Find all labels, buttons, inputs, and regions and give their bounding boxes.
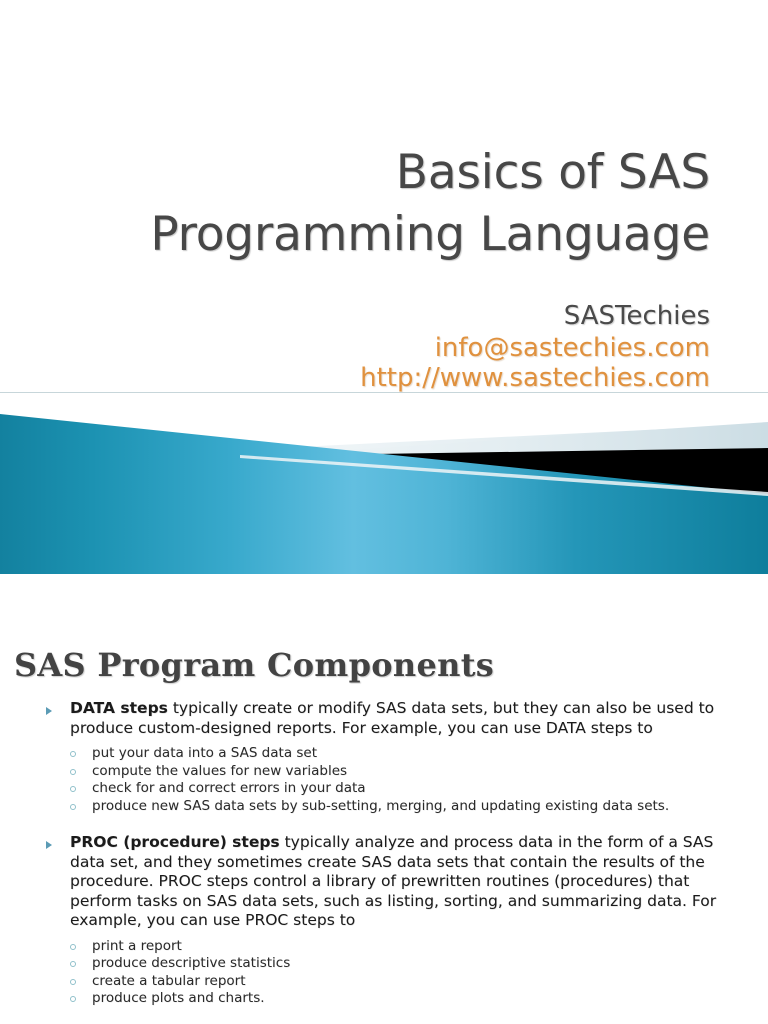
title-block: Basics of SAS Programming Language xyxy=(40,142,710,266)
circle-bullet-icon xyxy=(70,804,76,810)
bullet-lead: DATA steps xyxy=(70,699,168,717)
sub-bullet-text: compute the values for new variables xyxy=(92,763,347,779)
page-title: SAS Program Components xyxy=(14,646,494,684)
list-item: print a report xyxy=(0,938,768,955)
circle-bullet-icon xyxy=(70,751,76,757)
bullet-item: DATA steps typically create or modify SA… xyxy=(0,698,768,737)
sub-bullet-text: print a report xyxy=(92,938,182,954)
circle-bullet-icon xyxy=(70,786,76,792)
bullet-text: PROC (procedure) steps typically analyze… xyxy=(70,833,716,929)
divider-line xyxy=(0,392,768,393)
triangle-bullet-icon xyxy=(46,707,52,715)
circle-bullet-icon xyxy=(70,961,76,967)
bullet-lead: PROC (procedure) steps xyxy=(70,833,280,851)
sub-bullet-text: produce plots and charts. xyxy=(92,990,265,1006)
circle-bullet-icon xyxy=(70,979,76,985)
deck-title-line-2: Programming Language xyxy=(40,204,710,266)
triangle-bullet-icon xyxy=(46,841,52,849)
list-item: create a tabular report xyxy=(0,973,768,990)
subtitle-block: SASTechies info@sastechies.com http://ww… xyxy=(40,300,710,393)
list-item: put your data into a SAS data set xyxy=(0,745,768,762)
sub-bullet-text: create a tabular report xyxy=(92,973,246,989)
sub-bullet-text: produce new SAS data sets by sub-setting… xyxy=(92,798,669,814)
circle-bullet-icon xyxy=(70,996,76,1002)
website-url[interactable]: http://www.sastechies.com xyxy=(40,363,710,393)
slide-body: DATA steps typically create or modify SA… xyxy=(0,698,768,1008)
organization-name: SASTechies xyxy=(40,300,710,333)
sub-bullet-text: put your data into a SAS data set xyxy=(92,745,317,761)
list-item: produce new SAS data sets by sub-setting… xyxy=(0,798,768,815)
title-slide: Basics of SAS Programming Language SASTe… xyxy=(0,0,768,574)
circle-bullet-icon xyxy=(70,944,76,950)
sub-bullet-list: put your data into a SAS data set comput… xyxy=(0,745,768,814)
circle-bullet-icon xyxy=(70,769,76,775)
email-address[interactable]: info@sastechies.com xyxy=(40,333,710,363)
bullet-text: DATA steps typically create or modify SA… xyxy=(70,699,714,737)
content-slide: SAS Program Components DATA steps typica… xyxy=(0,574,768,1024)
list-item: compute the values for new variables xyxy=(0,763,768,780)
decorative-banner xyxy=(0,398,768,574)
spacer xyxy=(0,815,768,832)
bullet-item: PROC (procedure) steps typically analyze… xyxy=(0,832,768,930)
sub-bullet-text: check for and correct errors in your dat… xyxy=(92,780,366,796)
list-item: check for and correct errors in your dat… xyxy=(0,780,768,797)
sub-bullet-text: produce descriptive statistics xyxy=(92,955,290,971)
deck-title-line-1: Basics of SAS xyxy=(40,142,710,204)
list-item: produce plots and charts. xyxy=(0,990,768,1007)
sub-bullet-list: print a report produce descriptive stati… xyxy=(0,938,768,1007)
list-item: produce descriptive statistics xyxy=(0,955,768,972)
